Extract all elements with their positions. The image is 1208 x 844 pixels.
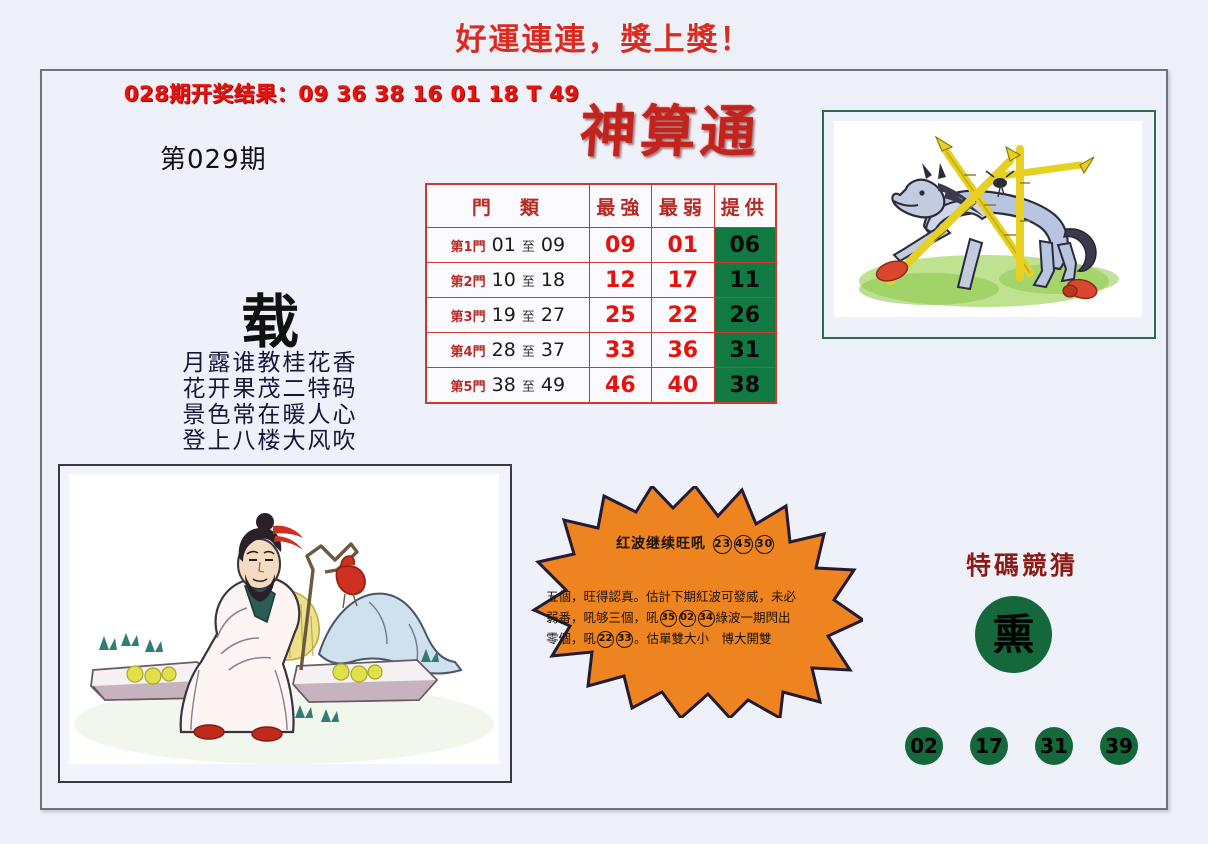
range-to: 27	[541, 304, 565, 326]
issue-number: 第029期	[160, 139, 267, 176]
gate-label: 第3門	[451, 310, 486, 325]
horse-bamboo-icon	[834, 121, 1142, 317]
cell-gate-range: 第1門 01 至 09	[426, 228, 589, 263]
special-number-ball: 39	[1100, 727, 1138, 765]
cell-provide: 31	[714, 333, 776, 368]
starburst-text: 红波继续旺吼 234530 五個，旺得認真。估計下期紅波可發威，未必 弱番，吼够…	[528, 486, 863, 718]
cell-weakest: 22	[652, 298, 714, 333]
gate-label: 第5門	[451, 380, 486, 395]
range-to: 18	[541, 269, 565, 291]
table-row: 第1門 01 至 09 09 01 06	[426, 228, 776, 263]
table-row: 第5門 38 至 49 46 40 38	[426, 368, 776, 404]
headline-ball: 30	[755, 535, 774, 554]
line2-suffix: 綠波一期閃出	[716, 610, 791, 625]
starburst-panel: 红波继续旺吼 234530 五個，旺得認真。估計下期紅波可發威，未必 弱番，吼够…	[528, 486, 863, 718]
cell-provide: 38	[714, 368, 776, 404]
line3-suffix: 。估單雙大小 博大開雙	[634, 631, 772, 646]
header-weakest: 最弱	[652, 184, 714, 228]
gate-label: 第1門	[451, 240, 486, 255]
range-sep: 至	[522, 310, 535, 325]
starburst-headline: 红波继续旺吼 234530	[528, 533, 863, 554]
header-strongest: 最強	[589, 184, 651, 228]
table-row: 第4門 28 至 37 33 36 31	[426, 333, 776, 368]
special-number-row: 02 17 31 39	[905, 727, 1150, 769]
range-sep: 至	[522, 345, 535, 360]
range-to: 37	[541, 339, 565, 361]
poem-block: 月露谁教桂花香 花开果茂二特码 景色常在暖人心 登上八楼大风吹	[140, 350, 400, 454]
line2-ball: 02	[679, 610, 696, 627]
cell-provide: 11	[714, 263, 776, 298]
feature-character: 载	[160, 275, 380, 359]
line2-prefix: 弱番，吼够三個，吼	[546, 610, 659, 625]
headline-ball: 45	[734, 535, 753, 554]
line2-ball: 35	[660, 610, 677, 627]
site-logo: 神算通	[538, 97, 803, 167]
horse-illustration	[834, 121, 1142, 317]
cell-weakest: 01	[652, 228, 714, 263]
range-from: 38	[492, 374, 516, 396]
cell-strongest: 12	[589, 263, 651, 298]
cell-weakest: 36	[652, 333, 714, 368]
starburst-body: 五個，旺得認真。估計下期紅波可發威，未必 弱番，吼够三個，吼350234綠波一期…	[546, 586, 846, 649]
cell-gate-range: 第4門 28 至 37	[426, 333, 589, 368]
poem-line-2: 花开果茂二特码	[140, 376, 400, 402]
cell-weakest: 17	[652, 263, 714, 298]
header-provide: 提供	[714, 184, 776, 228]
cell-strongest: 33	[589, 333, 651, 368]
horse-illustration-frame	[822, 110, 1156, 339]
range-sep: 至	[522, 275, 535, 290]
range-from: 01	[492, 234, 516, 256]
special-number-ball: 31	[1035, 727, 1073, 765]
sage-illustration-frame	[58, 464, 512, 783]
line2-ball: 34	[698, 610, 715, 627]
range-from: 28	[492, 339, 516, 361]
line3-ball: 22	[597, 631, 614, 648]
sage-illustration	[69, 474, 499, 764]
starburst-body-line-1: 五個，旺得認真。估計下期紅波可發威，未必	[546, 586, 846, 607]
range-to: 49	[541, 374, 565, 396]
starburst-body-line-2: 弱番，吼够三個，吼350234綠波一期閃出	[546, 607, 846, 628]
cell-provide: 26	[714, 298, 776, 333]
range-sep: 至	[522, 380, 535, 395]
seated-scholar-icon	[69, 474, 499, 764]
draw-results-line: 028期开奖结果：09 36 38 16 01 18 T 49	[124, 78, 579, 108]
range-sep: 至	[522, 240, 535, 255]
special-number-ball: 02	[905, 727, 943, 765]
header-gate: 門 類	[426, 184, 589, 228]
cell-strongest: 25	[589, 298, 651, 333]
gate-label: 第2門	[451, 275, 486, 290]
cell-weakest: 40	[652, 368, 714, 404]
poem-line-4: 登上八楼大风吹	[140, 428, 400, 454]
cell-strongest: 46	[589, 368, 651, 404]
cell-gate-range: 第5門 38 至 49	[426, 368, 589, 404]
promo-banner: 好運連連，獎上獎！	[0, 14, 1208, 59]
table-row: 第2門 10 至 18 12 17 11	[426, 263, 776, 298]
starburst-headline-text: 红波继续旺吼	[616, 536, 706, 552]
cell-gate-range: 第3門 19 至 27	[426, 298, 589, 333]
special-code-circle: 熏	[975, 596, 1052, 673]
range-from: 10	[492, 269, 516, 291]
gate-label: 第4門	[451, 345, 486, 360]
headline-ball: 23	[713, 535, 732, 554]
cell-provide: 06	[714, 228, 776, 263]
poem-line-3: 景色常在暖人心	[140, 402, 400, 428]
range-from: 19	[492, 304, 516, 326]
table-row: 第3門 19 至 27 25 22 26	[426, 298, 776, 333]
line3-ball: 33	[616, 631, 633, 648]
range-to: 09	[541, 234, 565, 256]
table-header-row: 門 類 最強 最弱 提供	[426, 184, 776, 228]
prediction-table: 門 類 最強 最弱 提供 第1門 01 至 09 09 01 06 第2門 10…	[425, 183, 777, 404]
special-number-ball: 17	[970, 727, 1008, 765]
starburst-body-line-3: 零個，吼2233。估單雙大小 博大開雙	[546, 628, 846, 649]
cell-gate-range: 第2門 10 至 18	[426, 263, 589, 298]
line3-prefix: 零個，吼	[546, 631, 596, 646]
cell-strongest: 09	[589, 228, 651, 263]
special-code-title: 特碼競猜	[922, 546, 1122, 582]
poem-line-1: 月露谁教桂花香	[140, 350, 400, 376]
